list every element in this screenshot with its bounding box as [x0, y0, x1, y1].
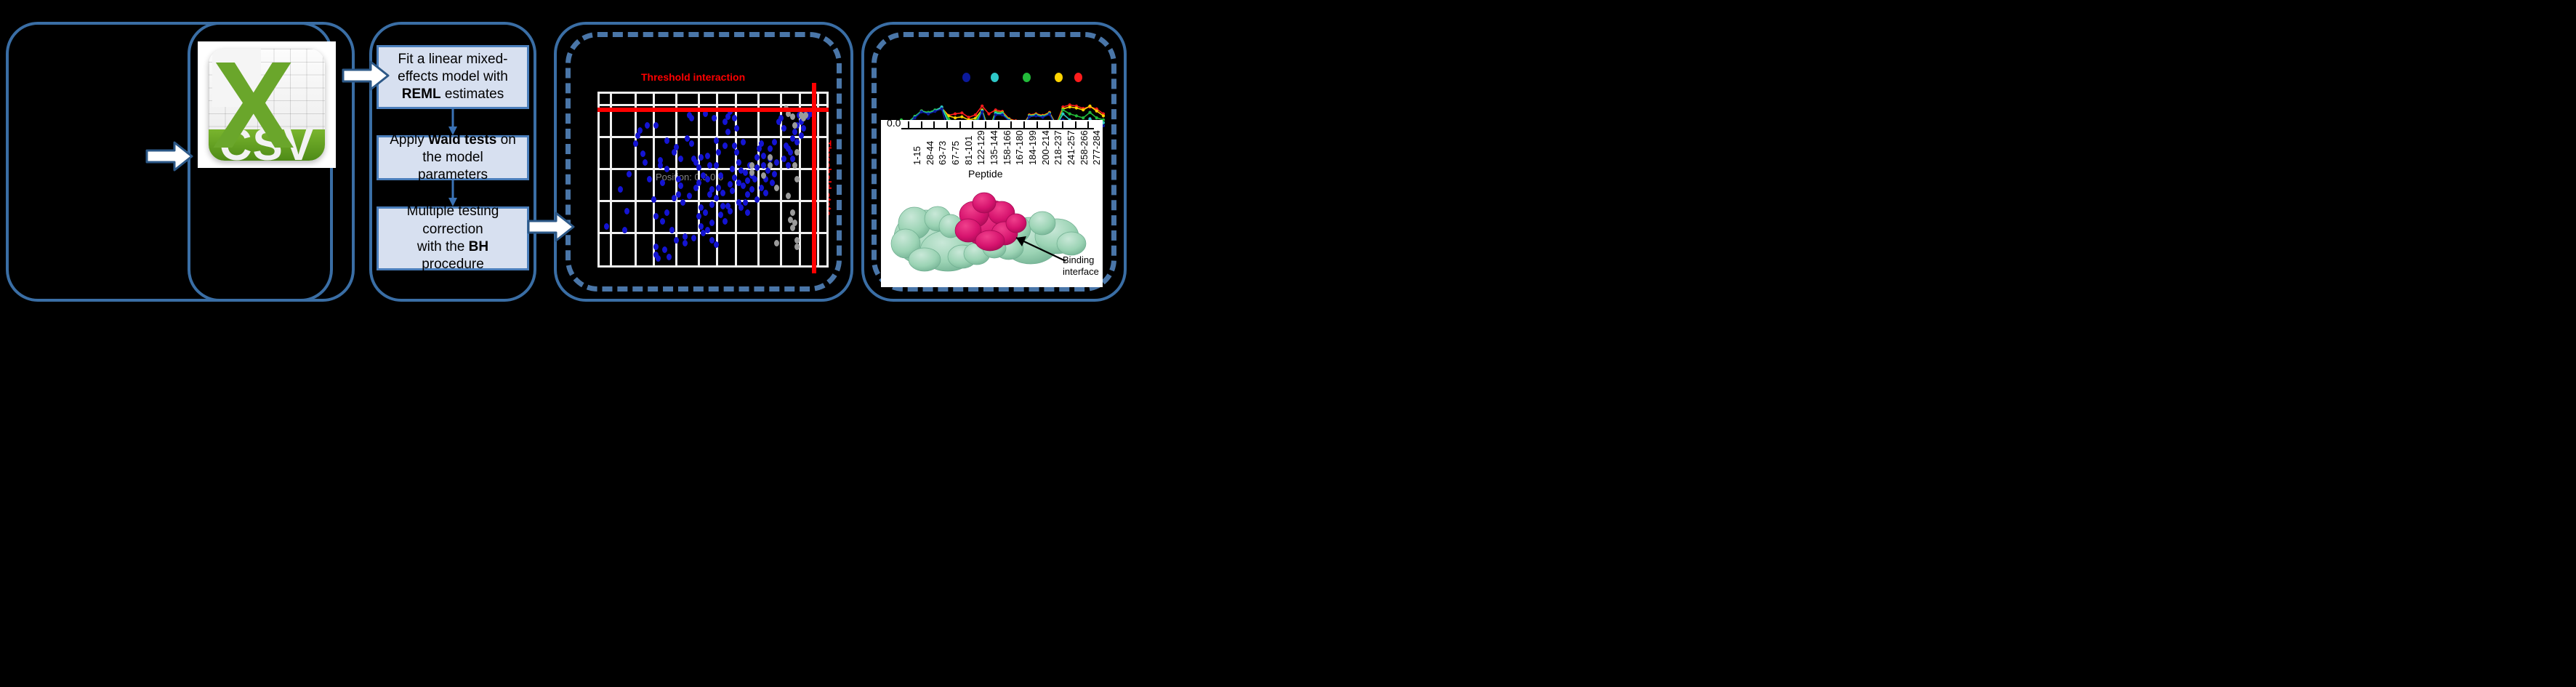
scatter-point — [662, 246, 667, 253]
scatter-point — [696, 213, 701, 220]
scatter-point — [790, 113, 795, 120]
x-axis-tick — [933, 121, 935, 128]
line-marker-blue — [1001, 113, 1004, 116]
peptide-tick-label: 63-73 — [937, 141, 948, 165]
line-marker-red — [981, 105, 983, 108]
scatter-point — [778, 115, 784, 121]
line-marker-blue — [1028, 116, 1031, 118]
line-marker-blue — [994, 113, 997, 116]
arrow-csv-to-analysis — [342, 60, 390, 92]
peptide-tick-label: 200-214 — [1040, 130, 1051, 165]
csv-x-letter: X — [212, 49, 261, 107]
scatter-point — [699, 223, 704, 230]
scatter-point — [676, 176, 681, 182]
scatter-point — [734, 149, 739, 156]
scatter-point — [699, 154, 704, 161]
scatter-point — [622, 227, 627, 233]
scatter-point — [781, 156, 786, 162]
scatter-point — [743, 169, 748, 176]
gridline-h — [597, 232, 829, 234]
scatter-title: Threshold interaction — [641, 71, 745, 83]
scatter-point — [707, 191, 712, 198]
scatter-point — [718, 212, 723, 218]
scatter-point — [667, 254, 672, 260]
line-marker-yellow — [1068, 105, 1071, 108]
scatter-point — [790, 209, 795, 216]
x-axis-tick — [1010, 121, 1012, 128]
line-marker-yellow — [1102, 114, 1105, 117]
scatter-point — [674, 144, 679, 150]
line-marker-blue — [1034, 114, 1037, 117]
gridline-v — [610, 92, 612, 268]
scatter-point — [705, 176, 710, 182]
line-marker-blue — [981, 111, 983, 113]
scatter-point — [723, 218, 728, 225]
scatter-point — [736, 159, 741, 166]
line-marker-red — [954, 113, 957, 116]
scatter-point — [714, 241, 719, 248]
line-marker-yellow — [1082, 108, 1084, 111]
line-marker-yellow — [1088, 105, 1091, 108]
scatter-point — [714, 195, 719, 201]
scatter-point — [653, 213, 659, 220]
scatter-point — [732, 174, 737, 181]
gridline-h — [597, 104, 829, 106]
peptide-tick-label: 167-180 — [1014, 130, 1025, 165]
scatter-point — [678, 182, 683, 189]
scatter-point — [687, 193, 692, 199]
scatter-point — [728, 208, 733, 214]
scatter-point — [732, 142, 737, 149]
scatter-point — [790, 156, 795, 162]
x-axis-caption: Peptide — [968, 168, 1002, 180]
scatter-point — [664, 209, 669, 216]
x-axis-tick — [972, 121, 973, 128]
gridline-v — [757, 92, 760, 268]
scatter-point — [792, 122, 797, 129]
scatter-point — [752, 176, 757, 182]
csv-icon-body: X CSV — [209, 49, 325, 160]
gridline-v — [597, 92, 600, 268]
scatter-point — [786, 193, 791, 199]
threshold-state-line — [812, 83, 816, 273]
scatter-point — [754, 154, 760, 161]
peptide-tick-label: 122-129 — [975, 130, 986, 165]
scatter-point — [643, 159, 648, 166]
scatter-point — [689, 115, 694, 121]
line-marker-green — [1095, 116, 1098, 119]
scatter-point — [730, 166, 735, 172]
x-axis-tick — [1087, 121, 1089, 128]
scatter-point — [624, 208, 629, 214]
scatter-point — [792, 129, 797, 135]
line-marker-green — [1082, 116, 1084, 119]
scatter-point — [699, 204, 704, 211]
line-marker-blue — [913, 116, 916, 119]
scatter-point — [743, 199, 748, 206]
x-axis-tick — [985, 121, 986, 128]
scatter-point — [774, 159, 779, 166]
scatter-point — [794, 149, 800, 156]
scatter-point — [772, 139, 777, 145]
scatter-point — [754, 164, 760, 171]
scatter-point — [794, 244, 800, 250]
scatter-point — [786, 145, 791, 152]
scatter-point — [728, 181, 733, 188]
peptide-tick-label: 158-166 — [1002, 130, 1013, 165]
line-marker-red — [960, 111, 963, 114]
scatter-ghost-axis-label: Position: 0.0 0.0 — [656, 172, 723, 182]
line-marker-yellow — [1075, 106, 1078, 109]
line-marker-green — [1061, 108, 1064, 111]
scatter-point — [676, 191, 681, 198]
gridline-v — [653, 92, 655, 268]
line-marker-blue — [1048, 113, 1051, 116]
scatter-point — [741, 139, 746, 145]
x-axis-tick — [1075, 121, 1076, 128]
scatter-point — [709, 220, 715, 226]
scatter-point — [660, 218, 665, 225]
x-axis-tick — [946, 121, 948, 128]
scatter-point — [674, 237, 679, 244]
scatter-point — [689, 140, 694, 147]
x-axis-tick — [921, 121, 922, 128]
scatter-point — [741, 182, 746, 189]
structure-white-card: 0.0 1-1528-4463-7367-7581-101122-129135-… — [881, 120, 1103, 287]
line-marker-red — [987, 113, 990, 116]
scatter-point — [653, 122, 659, 129]
line-marker-green — [1088, 111, 1091, 114]
scatter-point — [660, 180, 665, 186]
scatter-point — [761, 153, 766, 159]
threshold-scatter-chart: Threshold interaction Threshold state Po… — [581, 44, 829, 280]
x-axis-tick — [908, 121, 909, 128]
scatter-point — [705, 153, 710, 159]
scatter-point — [749, 186, 754, 193]
scatter-point — [640, 150, 645, 157]
x-axis-tick — [1049, 121, 1050, 128]
line-marker-blue — [927, 113, 930, 116]
gridline-v — [635, 92, 637, 268]
scatter-point — [716, 149, 721, 156]
scatter-point — [734, 125, 739, 132]
scatter-point — [705, 227, 710, 233]
step-wald-box: Apply Wald tests on the model parameters — [377, 135, 529, 180]
scatter-point — [703, 209, 708, 216]
step-bh-text: Multiple testing correction with the BH … — [386, 203, 520, 273]
scatter-point — [801, 125, 806, 132]
binding-interface-annotation: Binding interface — [1063, 254, 1099, 277]
line-marker-yellow — [954, 116, 957, 119]
step-bh-box: Multiple testing correction with the BH … — [377, 206, 529, 270]
scatter-point — [604, 223, 609, 230]
scatter-point — [759, 185, 764, 191]
scatter-point — [745, 209, 750, 216]
scatter-point — [759, 140, 764, 147]
scatter-point — [768, 154, 773, 161]
y-axis-value-label: 0.0 — [887, 120, 901, 129]
scatter-point — [768, 145, 773, 152]
scatter-point — [781, 125, 786, 132]
x-axis-tick — [998, 121, 999, 128]
scatter-point — [618, 186, 623, 193]
gridline-v — [826, 92, 829, 268]
scatter-point — [723, 142, 728, 149]
scatter-point — [637, 127, 643, 134]
scatter-point — [774, 185, 779, 191]
arrow-analysis-to-results — [527, 211, 575, 243]
scatter-point — [627, 171, 632, 177]
scatter-point — [794, 237, 800, 244]
step-model-box: Fit a linear mixed- effects model with R… — [377, 45, 529, 109]
line-marker-yellow — [960, 116, 963, 118]
scatter-point — [683, 240, 688, 246]
arrow-input-to-csv — [145, 140, 193, 172]
scatter-point — [647, 176, 652, 182]
line-marker-green — [1075, 114, 1078, 117]
scatter-point — [656, 255, 661, 262]
scatter-point — [730, 188, 735, 194]
scatter-point — [745, 177, 750, 184]
line-marker-cyan — [1061, 113, 1064, 116]
line-marker-blue — [941, 108, 943, 111]
scatter-point — [745, 191, 750, 198]
scatter-point — [669, 227, 675, 233]
scatter-point — [774, 240, 779, 246]
scatter-point — [714, 137, 719, 144]
peptide-tick-label: 277-284 — [1091, 130, 1102, 165]
x-axis-line — [901, 128, 1094, 129]
gridline-v — [817, 92, 819, 268]
scatter-point — [691, 235, 696, 241]
peptide-tick-label: 135-144 — [989, 130, 999, 165]
csv-file-icon: X CSV — [198, 41, 336, 168]
scatter-point — [678, 156, 683, 162]
scatter-point — [720, 190, 725, 196]
line-marker-yellow — [1095, 110, 1098, 113]
scatter-point — [683, 233, 688, 240]
gridline-h — [597, 265, 829, 268]
scatter-point — [754, 196, 760, 203]
scatter-point — [709, 201, 715, 208]
scatter-point — [633, 140, 638, 147]
scatter-point — [680, 199, 685, 206]
peptide-tick-label: 241-257 — [1066, 130, 1076, 165]
scatter-point — [653, 244, 659, 250]
scatter-point — [664, 137, 669, 144]
gridline-h — [597, 92, 829, 94]
line-marker-blue — [1042, 116, 1045, 118]
peptide-tick-label: 1-15 — [911, 146, 922, 165]
peptide-tick-label: 184-199 — [1027, 130, 1038, 165]
scatter-point — [794, 139, 800, 145]
x-axis-tick — [1062, 121, 1063, 128]
scatter-point — [763, 190, 768, 196]
threshold-interaction-line — [597, 108, 829, 112]
line-marker-blue — [933, 110, 936, 113]
peptide-tick-label: 81-101 — [963, 136, 974, 165]
scatter-point — [645, 122, 650, 129]
scatter-point — [725, 129, 730, 135]
scatter-point — [696, 164, 701, 171]
scatter-point — [794, 176, 800, 182]
scatter-point — [790, 225, 795, 231]
line-marker-red — [974, 113, 977, 116]
peptide-tick-label: 218-237 — [1052, 130, 1063, 165]
line-marker-blue — [920, 111, 923, 113]
x-axis-tick — [959, 121, 961, 128]
line-marker-green — [1068, 113, 1071, 116]
peptide-tick-label: 258-266 — [1079, 130, 1090, 165]
scatter-plot-area: Position: 0.0 0.0 — [597, 92, 829, 268]
peptide-tick-label: 28-44 — [925, 141, 935, 165]
x-axis-tick — [1037, 121, 1038, 128]
step-model-text: Fit a linear mixed- effects model with R… — [398, 51, 508, 104]
scatter-point — [799, 132, 804, 139]
scatter-point — [651, 196, 656, 203]
peptide-tick-label: 67-75 — [950, 141, 961, 165]
x-axis-tick — [1023, 121, 1025, 128]
scatter-point — [772, 171, 777, 177]
step-wald-text: Apply Wald tests on the model parameters — [386, 132, 520, 185]
